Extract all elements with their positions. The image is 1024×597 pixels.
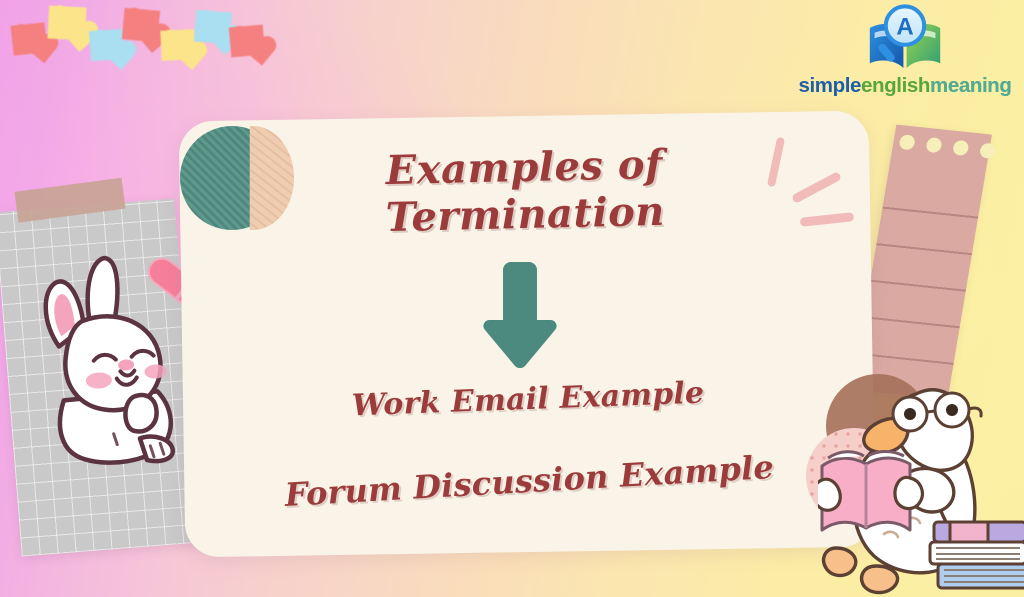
heart-icon-2: [47, 6, 86, 41]
heart-icon-3: [89, 29, 125, 61]
brand-word-meaning: meaning: [930, 74, 1012, 97]
heart-icon-5: [160, 29, 196, 61]
notepad-hole: [925, 137, 942, 153]
notepad-hole: [979, 143, 996, 159]
heart-icon-6: [194, 10, 232, 44]
brand-word-simple: simple: [798, 74, 861, 97]
brand-wordmark: simpleenglishmeaning: [794, 74, 1016, 98]
book-magnifier-a-icon: A: [865, 4, 945, 76]
goose-reading-book-illustration: [818, 352, 1024, 597]
arrow-down-icon: [481, 258, 559, 374]
notepad-hole: [952, 140, 969, 156]
hearts-decoration-row: [6, 2, 266, 62]
example-item-work-email: Work Email Example: [183, 369, 874, 429]
brand-logo: A simpleenglishmeaning: [794, 4, 1016, 108]
example-item-forum-discussion: Forum Discussion Example: [184, 442, 875, 520]
brand-word-english: english: [861, 74, 930, 97]
svg-text:A: A: [896, 13, 913, 40]
heart-icon-7: [229, 25, 265, 58]
notepad-hole: [898, 134, 915, 150]
notepad-holes: [898, 134, 996, 159]
poster-canvas: A simpleenglishmeaning: [0, 0, 1024, 597]
heart-icon-4: [122, 8, 160, 42]
heart-icon-1: [11, 22, 48, 55]
bunny-illustration: [14, 244, 201, 485]
washi-tape-decoration: [14, 178, 125, 223]
